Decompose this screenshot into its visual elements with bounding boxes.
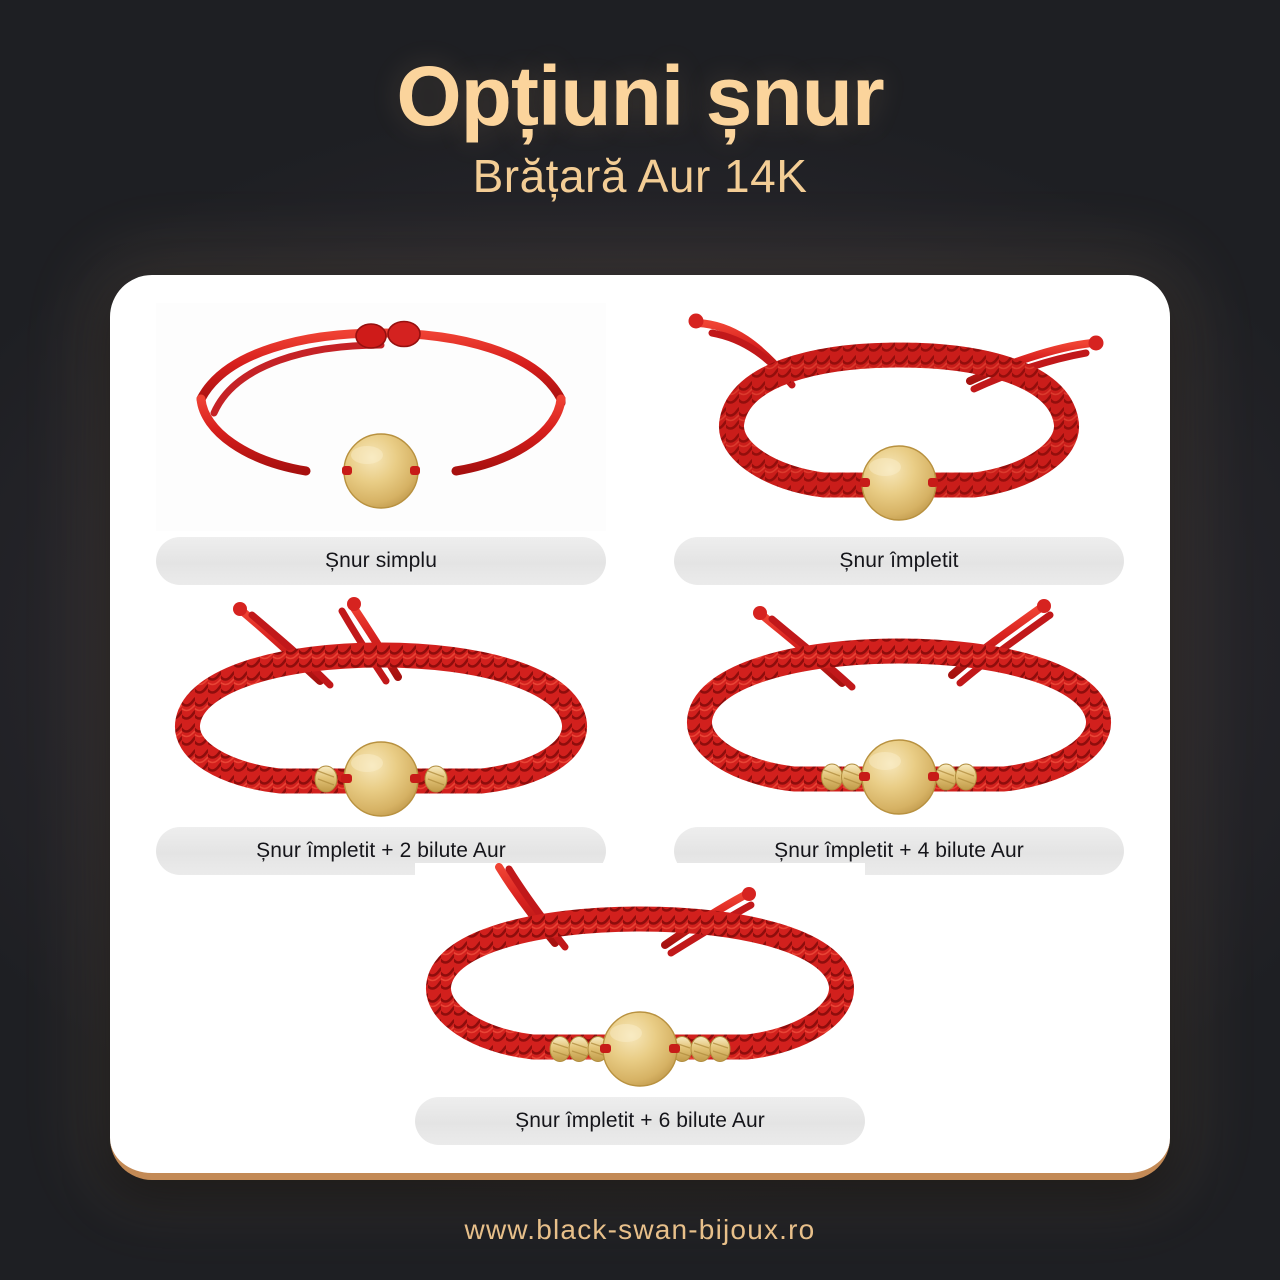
option-label: Șnur împletit + 6 bilute Aur [515,1109,765,1133]
option-label: Șnur împletit [839,549,958,573]
option-item[interactable]: Șnur simplu [156,303,606,585]
poster-header: Opțiuni șnur Brățară Aur 14K [0,0,1280,250]
option-label: Șnur împletit + 2 bilute Aur [256,839,506,863]
options-grid: Șnur simplu [110,275,1170,1173]
option-label-pill: Șnur simplu [156,537,606,585]
bracelet-photo-braided-2-beads [156,593,606,821]
option-item[interactable]: Șnur împletit + 6 bilute Aur [415,863,865,1145]
bracelet-photo-braided [674,303,1124,531]
option-item[interactable]: Șnur împletit + 2 bilute Aur [156,593,606,875]
poster-root: Opțiuni șnur Brățară Aur 14K [0,0,1280,1280]
option-label-pill: Șnur împletit [674,537,1124,585]
option-label: Șnur împletit + 4 bilute Aur [774,839,1024,863]
bracelet-photo-braided-6-beads [415,863,865,1091]
page-subtitle: Brățară Aur 14K [0,149,1280,203]
bracelet-photo-braided-4-beads [674,593,1124,821]
option-item[interactable]: Șnur împletit + 4 bilute Aur [674,593,1124,875]
poster-footer: www.black-swan-bijoux.ro [0,1180,1280,1280]
website-url[interactable]: www.black-swan-bijoux.ro [465,1214,816,1246]
page-title: Opțiuni șnur [0,52,1280,141]
bracelet-photo-simple [156,303,606,531]
option-label: Șnur simplu [325,549,437,573]
options-card: Șnur simplu [110,275,1170,1180]
option-label-pill: Șnur împletit + 6 bilute Aur [415,1097,865,1145]
option-item[interactable]: Șnur împletit [674,303,1124,585]
